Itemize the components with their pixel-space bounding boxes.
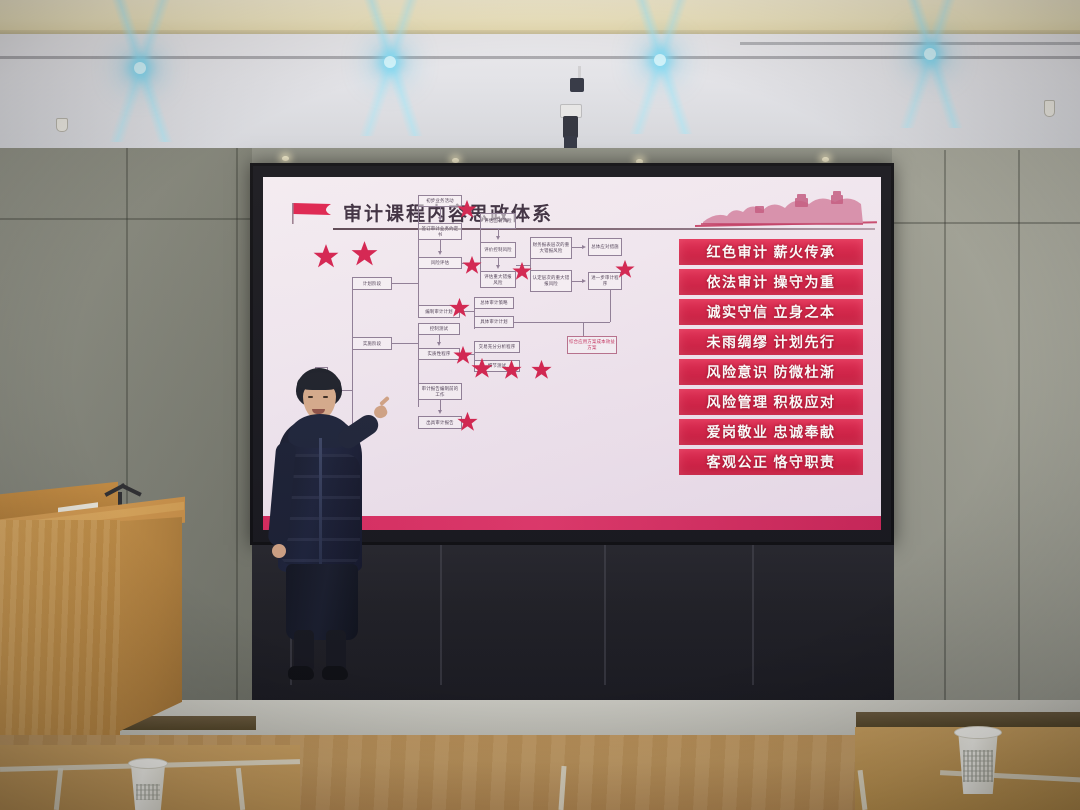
paper-cup-rim [128,758,168,769]
flow-line [392,283,418,284]
ceiling-plane [0,34,1080,154]
emphasis-star-icon [449,297,470,318]
presenter-lower-garment [286,564,358,640]
flowchart-node: 认定层次的重大错报风险 [530,270,572,292]
emphasis-star-icon [512,261,532,281]
flowchart-node: 签订审计业务约定书 [418,223,462,240]
flow-line [418,201,419,311]
wall-sensor-right-icon [1044,100,1055,117]
flow-arrow [438,410,442,414]
slogan-banner: 未雨绸缪 计划先行 [679,329,863,355]
presenter-shoe-right [322,666,348,680]
slogan-banner: 风险意识 防微杜渐 [679,359,863,385]
emphasis-star-icon [471,357,493,379]
presenter-eye-right [323,396,328,398]
flowchart-node: 交易充分分析程序 [474,341,520,353]
wall-sensor-left-icon [56,118,68,132]
flow-arrow [582,279,586,283]
downlight [282,156,289,161]
skirt-seam [440,545,442,685]
flow-line [583,322,584,336]
lecture-hall-photo: 审计课程内容思政体系 [0,0,1080,810]
presenter-fringe [297,372,341,390]
spotlight-4 [924,48,936,60]
slogan-banner: 爱岗敬业 忠诚奉献 [679,419,863,445]
flow-arrow [438,251,442,255]
presenter-left-hand [272,544,286,558]
ceiling-rail [0,56,1080,59]
skirt-seam [604,545,606,685]
wall-panel-seam [236,148,238,728]
flow-arrow [437,342,441,346]
emphasis-star-icon [531,359,552,380]
flowchart-node: 初步业务活动 [418,195,462,207]
slogan-banner-list: 红色审计 薪火传承 依法审计 操守为重 诚实守信 立身之本 未雨绸缪 计划先行 … [679,239,863,475]
slogan-banner: 红色审计 薪火传承 [679,239,863,265]
emphasis-star-icon [615,259,635,279]
flowchart-node: 评价控制风险 [480,242,516,258]
presenter-shoe-left [288,666,314,680]
downlight [822,157,829,162]
emphasis-star-icon [462,255,482,275]
emphasis-star-icon [457,199,477,219]
flowchart-node: 出具审计报告 [418,416,462,429]
presenter-coat-zipper [319,438,322,566]
wall-panel-seam [0,218,252,220]
flowchart-node: 总体审计策略 [474,297,514,309]
wall-panel-seam [944,150,946,728]
flowchart-node: 审计报告编制前的工作 [418,383,462,400]
projector-lens [563,116,578,138]
flow-line [392,343,418,344]
paper-cup-print [963,750,993,782]
podium-wood-grain [0,520,120,740]
spotlight-1 [134,62,146,74]
emphasis-star-icon [453,345,473,365]
flowchart-node: 具体审计计划 [474,316,514,328]
paper-cup-print [136,784,160,800]
podium-front-panel [0,520,120,740]
spotlight-2 [384,56,396,68]
wall-right [892,148,1080,728]
flowchart-node-stage-2: 实施阶段 [352,337,392,350]
flowchart-node: 总体应对措施 [588,238,622,256]
emphasis-star-icon [501,359,522,380]
spotlight-3 [654,54,666,66]
ceiling-rail-secondary [740,42,1080,45]
flow-arrow [496,265,500,269]
flow-arrow [438,217,442,221]
slogan-banner: 风险管理 积极应对 [679,389,863,415]
slogan-banner: 依法审计 操守为重 [679,269,863,295]
presenter-eye-left [308,396,313,398]
dome-camera-icon [570,78,584,92]
presenter [266,368,386,680]
wall-panel-seam [892,222,1080,224]
wall-panel-seam [1018,150,1020,728]
emphasis-star-icon [457,411,478,432]
flow-arrow [496,236,500,240]
skirt-seam [752,545,754,685]
flowchart-node: 评估重大错报风险 [480,271,516,288]
paper-cup-rim [954,726,1002,739]
flowchart-node: 控制测试 [418,323,460,335]
flow-line [514,322,610,323]
slogan-banner: 客观公正 恪守职责 [679,449,863,475]
flowchart-node-stage-1: 计划阶段 [352,277,392,290]
podium-side-panel [118,517,182,732]
flow-arrow [582,245,586,249]
flowchart-node: 评估固有风险 [480,213,516,229]
flowchart-node: 风险评估 [418,257,462,269]
flowchart-node-highlight: 综合应用方案成本效益方案 [567,336,617,354]
flow-line [610,290,611,322]
flowchart-node: 财务报表层次的重大错报风险 [530,237,572,259]
slogan-banner: 诚实守信 立身之本 [679,299,863,325]
ceiling-soffit [0,0,1080,34]
